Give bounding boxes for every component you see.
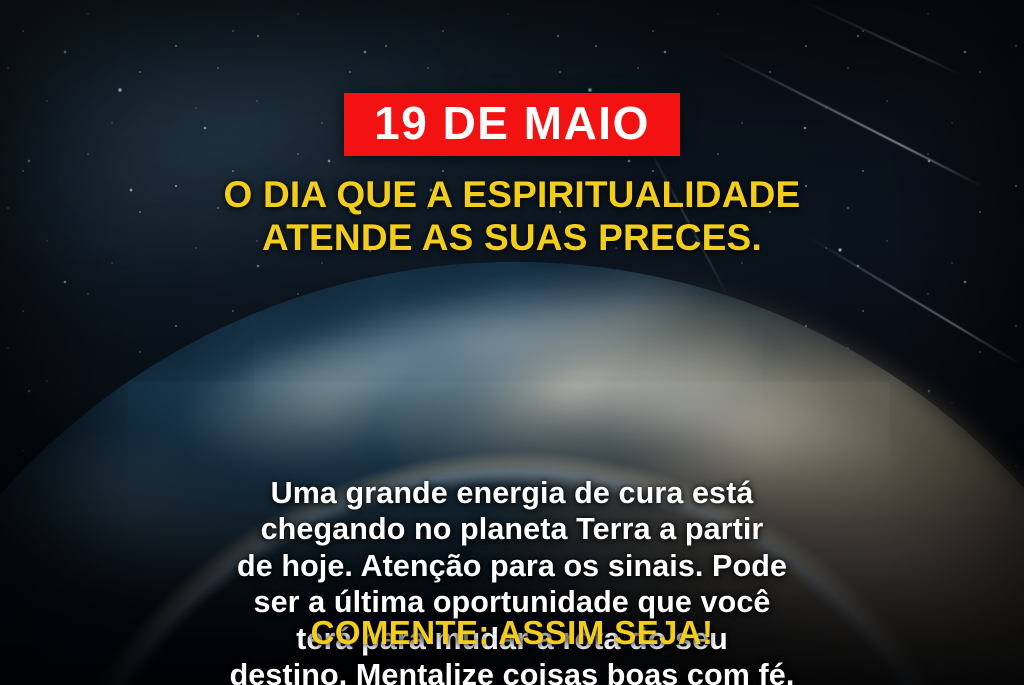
date-banner-label: 19 DE MAIO — [374, 100, 650, 146]
call-to-action-label: COMENTE: ASSIM SEJA! — [0, 614, 1024, 652]
poster-content: 19 DE MAIO O DIA QUE A ESPIRITUALIDADE A… — [0, 0, 1024, 685]
body-paragraph: Uma grande energia de cura está chegando… — [0, 475, 1024, 685]
headline: O DIA QUE A ESPIRITUALIDADE ATENDE AS SU… — [224, 174, 801, 260]
date-banner: 19 DE MAIO — [344, 93, 680, 156]
poster: 19 DE MAIO O DIA QUE A ESPIRITUALIDADE A… — [0, 0, 1024, 685]
